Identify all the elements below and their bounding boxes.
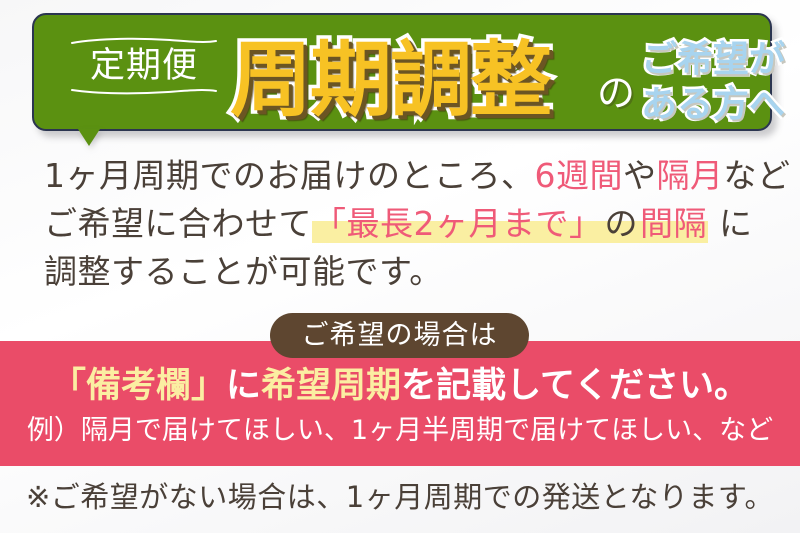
subscription-badge-label: 定期便 <box>68 46 220 86</box>
subscription-badge: 定期便 <box>68 37 220 95</box>
promo-banner-canvas: 定期便 周期調整 の ご希望が ある方へ 1ヶ月周期でのお届けのところ、6週間や… <box>0 0 800 533</box>
request-case-pill: ご希望の場合は <box>270 313 529 358</box>
banner-connector: の <box>597 71 635 115</box>
body-paragraph: 1ヶ月周期でのお届けのところ、6週間や隔月など ご希望に合わせて「最長2ヶ月まで… <box>44 152 774 296</box>
body-line1-highlight-6weeks: 6週間 <box>535 156 624 195</box>
instruction-example-line: 例）隔月で届けてほしい、1ヶ月半周期で届けてほしい、など <box>0 414 800 448</box>
wave-rule-bottom-icon <box>70 86 218 95</box>
banner-title: 周期調整 <box>230 31 550 131</box>
body-line1-seg5: など <box>724 156 791 195</box>
body-line2-seg3: の <box>604 204 640 243</box>
body-line1-seg1: 1ヶ月周期でのお届けのところ、 <box>44 156 535 195</box>
body-line1-seg3: や <box>623 156 657 195</box>
instruction-seg2: に <box>226 366 261 406</box>
banner-tail-icon <box>78 129 100 146</box>
body-line2-highlight-maxtwomonths: 「最長2ヶ月まで」 <box>312 204 604 243</box>
body-line2-seg1: ご希望に合わせて <box>44 204 312 243</box>
body-line2-highlight-interval: 間隔 <box>639 204 708 243</box>
body-line-3: 調整することが可能です。 <box>44 248 774 296</box>
body-line1-highlight-bimonthly: 隔月 <box>657 156 724 195</box>
footer-note: ※ご希望がない場合は、1ヶ月周期での発送となります。 <box>0 477 800 517</box>
instruction-remarks-field: 「備考欄」 <box>51 366 226 406</box>
body-line2-seg5: に <box>708 204 753 243</box>
instruction-desired-cycle: 希望周期 <box>261 366 401 406</box>
banner-wish-block: ご希望が ある方へ <box>641 37 800 127</box>
request-case-pill-label: ご希望の場合は <box>302 321 498 351</box>
wave-rule-top-icon <box>70 37 218 46</box>
header-banner: 定期便 周期調整 の ご希望が ある方へ <box>32 13 772 131</box>
instruction-main-line: 「備考欄」に希望周期を記載してください。 <box>0 364 800 408</box>
instruction-seg4: を記載してください。 <box>401 366 749 406</box>
body-line-2: ご希望に合わせて「最長2ヶ月まで」の間隔 に <box>44 200 774 248</box>
banner-wish-line-1: ご希望が <box>641 37 800 82</box>
banner-wish-line-2: ある方へ <box>641 82 800 127</box>
body-line-1: 1ヶ月周期でのお届けのところ、6週間や隔月など <box>44 152 774 200</box>
instruction-band: 「備考欄」に希望周期を記載してください。 例）隔月で届けてほしい、1ヶ月半周期で… <box>0 341 800 466</box>
